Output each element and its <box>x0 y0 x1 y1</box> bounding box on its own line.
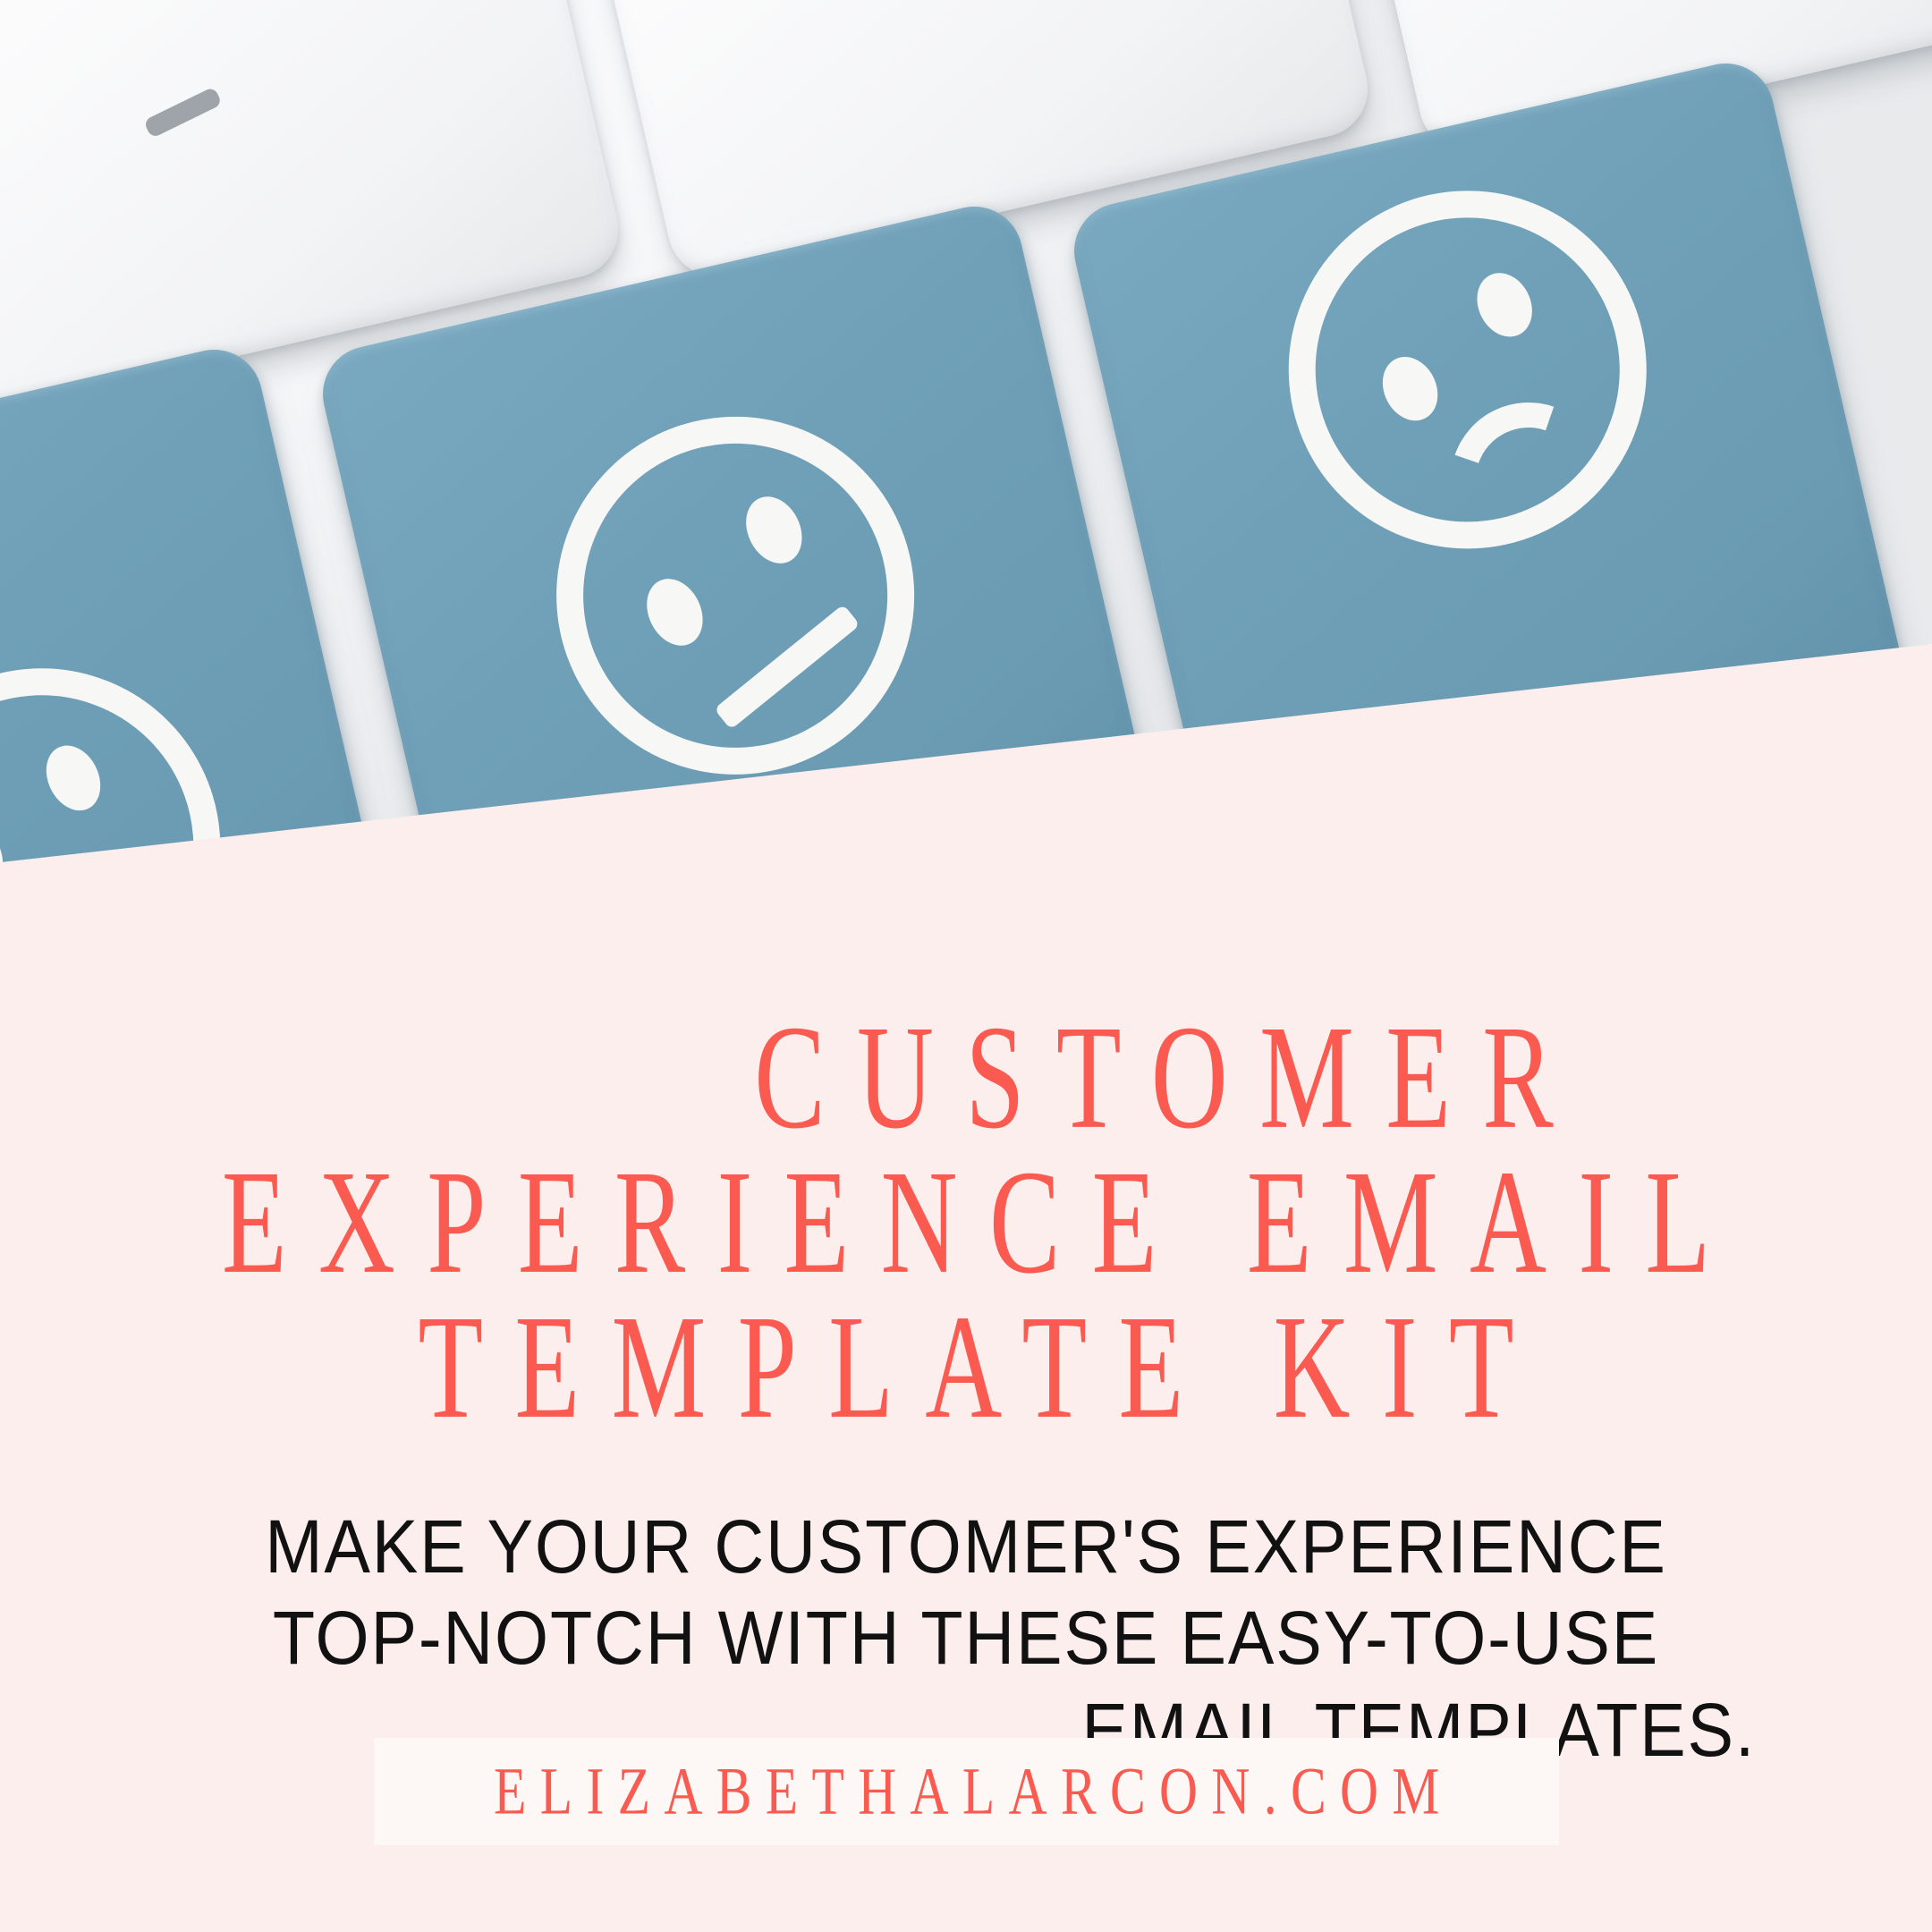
eye-left-icon <box>636 570 713 656</box>
mouth-neutral-icon <box>714 604 860 729</box>
subtitle-line-2: TOP-NOTCH WITH THESE EASY-TO-USE <box>77 1592 1854 1683</box>
promo-graphic-canvas: CUSTOMER EXPERIENCE EMAIL TEMPLATE KIT M… <box>0 0 1932 1932</box>
website-url-bar[interactable]: ELIZABETHALARCON.COM <box>374 1738 1559 1845</box>
subtitle-line-1: MAKE YOUR CUSTOMER'S EXPERIENCE <box>77 1501 1854 1592</box>
blank-keycap-icon <box>143 87 223 139</box>
page-subtitle: MAKE YOUR CUSTOMER'S EXPERIENCE TOP-NOTC… <box>77 1501 1854 1775</box>
page-title: CUSTOMER EXPERIENCE EMAIL TEMPLATE KIT <box>0 1020 1932 1424</box>
headline-line-2: EXPERIENCE EMAIL <box>68 1148 1865 1296</box>
sad-face-icon <box>1228 131 1707 609</box>
eye-left-icon <box>1372 348 1448 430</box>
text-content: CUSTOMER EXPERIENCE EMAIL TEMPLATE KIT M… <box>0 1020 1932 1775</box>
eye-right-icon <box>1467 264 1543 346</box>
eye-right-icon <box>36 736 111 819</box>
mouth-frown-icon <box>1425 377 1633 585</box>
headline-line-1: CUSTOMER <box>430 1003 1877 1151</box>
eye-right-icon <box>735 487 812 573</box>
website-url-text: ELIZABETHALARCON.COM <box>479 1753 1453 1831</box>
headline-line-3: TEMPLATE KIT <box>68 1292 1865 1441</box>
